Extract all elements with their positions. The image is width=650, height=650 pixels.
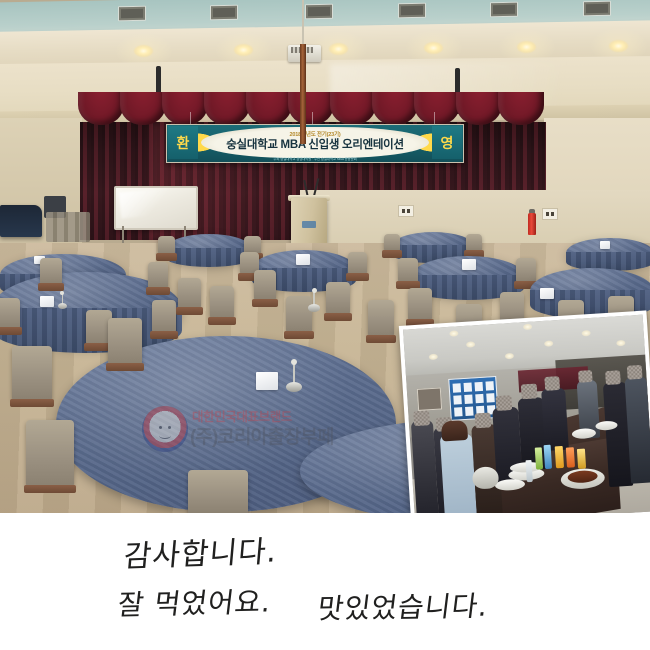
- banner-footer: 주최 숭실대학교 경영대학원 · 주관 숭실대학교 MBA 총동문회: [201, 156, 429, 161]
- inset-notice-board: [448, 376, 499, 421]
- screen-glare: [119, 187, 171, 218]
- downlight: [329, 43, 348, 55]
- banner-title: 숭실대학교 MBA 신입생 오리엔테이션: [226, 138, 403, 152]
- drink-bottle: [566, 447, 575, 467]
- ceiling-vent: [398, 3, 426, 19]
- drink-bottle: [555, 446, 564, 468]
- banquet-chair: [158, 236, 175, 254]
- banquet-chair: [148, 262, 168, 288]
- event-banner: 환 영 2018학년도 전기(23기) 숭실대학교 MBA 신입생 오리엔테이션…: [166, 124, 464, 163]
- wall-outlet: [542, 208, 558, 220]
- table-napkin: [296, 254, 310, 265]
- inset-blurred-face: [413, 410, 430, 426]
- drink-bottle: [544, 445, 552, 469]
- inset-blurred-face: [578, 370, 593, 383]
- water-bottle: [525, 460, 532, 482]
- ceiling-vent: [210, 5, 238, 21]
- banquet-chair: [516, 258, 536, 282]
- inset-blurred-face: [627, 365, 643, 380]
- piano: [0, 205, 42, 237]
- inset-buffet-photo: [399, 310, 650, 530]
- handwritten-caption: [0, 513, 650, 650]
- downlight: [424, 42, 443, 54]
- downlight: [517, 41, 536, 53]
- drink-bottle: [535, 447, 543, 469]
- table-napkin: [600, 241, 610, 249]
- banquet-chair: [398, 258, 418, 282]
- table-napkin: [540, 288, 554, 299]
- caption-line-2a: 잘 먹었어요.: [116, 580, 274, 623]
- banner-char-left: 환: [168, 126, 198, 159]
- downlight: [134, 45, 153, 57]
- caption-line-2b: 맛있었습니다.: [316, 584, 491, 627]
- projector-mount-rod: [302, 0, 304, 46]
- wooden-pole: [300, 44, 306, 144]
- table-napkin: [256, 372, 278, 390]
- banquet-chair: [178, 278, 201, 308]
- banquet-chair: [0, 298, 20, 328]
- banquet-chair: [368, 300, 394, 336]
- banquet-chair: [152, 300, 176, 332]
- inset-blurred-face: [474, 412, 491, 428]
- drink-bottle: [577, 449, 586, 469]
- inset-blurred-face: [495, 395, 512, 411]
- ceiling-vent: [490, 2, 518, 18]
- banquet-chair: [26, 420, 74, 486]
- inset-wall-picture: [417, 387, 442, 410]
- wall-outlet: [398, 205, 414, 217]
- inset-blurred-face: [605, 370, 621, 385]
- inset-guest-hair: [441, 420, 468, 442]
- table-napkin: [40, 296, 54, 307]
- inset-blurred-face: [544, 376, 560, 391]
- banquet-chair: [188, 470, 248, 513]
- table-candle-stand: [308, 290, 320, 312]
- inset-photo-content: [403, 315, 650, 527]
- review-card: 환 영 2018학년도 전기(23기) 숭실대학교 MBA 신입생 오리엔테이션…: [0, 0, 650, 650]
- banquet-chair: [210, 286, 234, 318]
- ceiling-vent: [305, 4, 333, 20]
- banquet-chair: [348, 252, 367, 274]
- banner-center-oval: 2018학년도 전기(23기) 숭실대학교 MBA 신입생 오리엔테이션: [201, 127, 429, 158]
- downlight: [609, 40, 628, 52]
- lectern-emblem: [302, 221, 316, 228]
- banquet-chair: [466, 234, 482, 251]
- table-candle-stand: [286, 362, 302, 392]
- caption-line-1: 감사합니다.: [122, 526, 279, 576]
- banquet-chair: [408, 288, 432, 320]
- ceiling-vent: [583, 1, 611, 17]
- banquet-chair: [326, 282, 350, 314]
- table-candle-stand: [58, 293, 67, 309]
- banner-char-right: 영: [432, 126, 462, 159]
- banquet-chair: [108, 318, 142, 364]
- banquet-chair: [12, 346, 52, 400]
- fire-extinguisher: [528, 213, 536, 235]
- inset-blurred-face: [521, 383, 538, 399]
- table-napkin: [462, 259, 476, 270]
- banquet-chair: [384, 234, 400, 251]
- ceiling-vent: [118, 6, 146, 22]
- stacked-side-chairs: [46, 212, 90, 242]
- inset-guest: [541, 388, 569, 451]
- banquet-chair: [40, 258, 62, 284]
- banquet-chair: [254, 270, 276, 300]
- downlight: [234, 44, 253, 56]
